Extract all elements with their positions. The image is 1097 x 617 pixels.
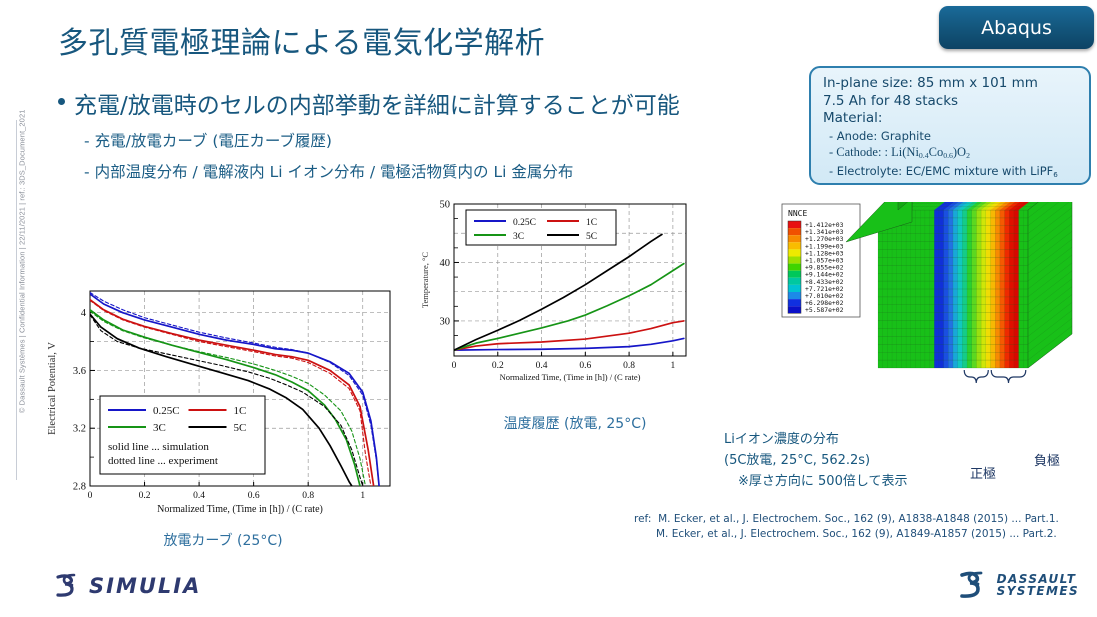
svg-text:3C: 3C bbox=[153, 422, 166, 434]
reference-line-1: ref: M. Ecker, et al., J. Electrochem. S… bbox=[634, 512, 1059, 527]
svg-text:0.6: 0.6 bbox=[248, 491, 260, 501]
reference-line-2: M. Ecker, et al., J. Electrochem. Soc., … bbox=[634, 527, 1059, 542]
reference-block: ref: M. Ecker, et al., J. Electrochem. S… bbox=[634, 512, 1059, 542]
confidential-text: © Dassault Systèmes | Confidential Infor… bbox=[18, 110, 27, 470]
spec-inplane-size: In-plane size: 85 mm x 101 mm bbox=[823, 75, 1079, 93]
model-annotation-line2: (5C放電, 25°C, 562.2s) bbox=[724, 449, 870, 468]
svg-text:Normalized Time, (Time in [h]): Normalized Time, (Time in [h]) / (C rate… bbox=[157, 504, 323, 515]
svg-text:40: 40 bbox=[440, 258, 451, 269]
simulia-wordmark: SIMULIA bbox=[89, 574, 201, 598]
svg-text:3.2: 3.2 bbox=[73, 424, 86, 435]
svg-text:dotted line ... experiment: dotted line ... experiment bbox=[108, 455, 218, 467]
svg-text:0.4: 0.4 bbox=[193, 491, 205, 501]
svg-text:solid line ... simulation: solid line ... simulation bbox=[108, 441, 209, 453]
bullet-dot-icon bbox=[58, 98, 65, 105]
dassault-wordmark: DASSAULT SYSTEMES bbox=[997, 573, 1079, 598]
svg-text:4: 4 bbox=[81, 308, 87, 319]
ds-line2: SYSTEMES bbox=[997, 585, 1079, 598]
spec-cathode: - Cathode: : Li(Ni0.4Co0.6)O2 bbox=[823, 144, 1079, 164]
svg-text:0.4: 0.4 bbox=[536, 361, 548, 371]
dassault-systemes-logo: DASSAULT SYSTEMES bbox=[955, 570, 1079, 600]
spec-info-box: In-plane size: 85 mm x 101 mm 7.5 Ah for… bbox=[809, 66, 1091, 185]
svg-text:0.2: 0.2 bbox=[492, 361, 504, 371]
bullet-level2-b: -内部温度分布 / 電解液内 Li イオン分布 / 電極活物質内の Li 金属分… bbox=[84, 160, 573, 182]
svg-text:0: 0 bbox=[452, 361, 457, 371]
svg-text:Electrical Potential, V: Electrical Potential, V bbox=[47, 342, 58, 435]
spec-material-heading: Material: bbox=[823, 110, 1079, 128]
svg-text:0.25C: 0.25C bbox=[513, 218, 536, 228]
temperature-chart-caption: 温度履歴 (放電, 25°C) bbox=[470, 413, 680, 433]
bullet-level2-a: -充電/放電カーブ (電圧カーブ履歴) bbox=[84, 129, 332, 151]
fem-model-view: NNCE+1.412e+03+1.341e+03+1.270e+03+1.199… bbox=[780, 202, 1097, 452]
svg-text:1C: 1C bbox=[586, 218, 597, 228]
svg-text:3.6: 3.6 bbox=[73, 366, 86, 377]
3ds-mark-icon bbox=[52, 573, 82, 599]
spec-anode: - Anode: Graphite bbox=[823, 128, 1079, 144]
page-title: 多孔質電極理論による電気化学解析 bbox=[58, 18, 545, 62]
svg-text:0.8: 0.8 bbox=[623, 361, 635, 371]
svg-text:+5.587e+02: +5.587e+02 bbox=[805, 306, 844, 314]
bullet-level2-a-text: 充電/放電カーブ (電圧カーブ履歴) bbox=[95, 132, 332, 150]
svg-text:0.6: 0.6 bbox=[579, 361, 591, 371]
svg-text:0.2: 0.2 bbox=[139, 491, 151, 501]
spec-capacity: 7.5 Ah for 48 stacks bbox=[823, 93, 1079, 111]
slide-canvas: © Dassault Systèmes | Confidential Infor… bbox=[0, 0, 1097, 617]
svg-text:3C: 3C bbox=[513, 232, 524, 242]
svg-text:5C: 5C bbox=[234, 422, 247, 434]
cathode-brace-label: 正極 bbox=[970, 463, 996, 482]
svg-text:30: 30 bbox=[440, 316, 451, 327]
svg-text:1C: 1C bbox=[234, 405, 247, 417]
simulia-logo: SIMULIA bbox=[52, 573, 201, 599]
anode-brace-label: 負極 bbox=[1034, 450, 1060, 469]
svg-text:2.8: 2.8 bbox=[73, 482, 86, 493]
svg-text:NNCE: NNCE bbox=[788, 209, 807, 218]
svg-text:5C: 5C bbox=[586, 232, 597, 242]
dash-marker: - bbox=[84, 132, 90, 150]
svg-text:1: 1 bbox=[360, 491, 365, 501]
bullet-level1: 充電/放電時のセルの内部挙動を詳細に計算することが可能 bbox=[58, 86, 680, 120]
svg-text:50: 50 bbox=[440, 200, 451, 211]
3ds-mark-icon bbox=[955, 570, 991, 600]
svg-text:1: 1 bbox=[670, 361, 675, 371]
confidential-strip: © Dassault Systèmes | Confidential Infor… bbox=[2, 120, 20, 480]
abaqus-badge-label: Abaqus bbox=[981, 17, 1052, 39]
svg-text:0.25C: 0.25C bbox=[153, 405, 180, 417]
model-annotation-line3: ※厚さ方向に 500倍して表示 bbox=[738, 470, 907, 489]
model-annotation-line1: Liイオン濃度の分布 bbox=[724, 428, 839, 447]
temperature-history-chart: 00.20.40.60.81304050Normalized Time, (Ti… bbox=[418, 196, 698, 401]
svg-text:0: 0 bbox=[88, 491, 93, 501]
spec-electrolyte: - Electrolyte: EC/EMC mixture with LiPF6 bbox=[823, 163, 1079, 183]
svg-text:Normalized Time, (Time in [h]): Normalized Time, (Time in [h]) / (C rate… bbox=[500, 372, 641, 382]
discharge-curve-chart: 00.20.40.60.812.83.23.64Normalized Time,… bbox=[38, 283, 408, 518]
dash-marker: - bbox=[84, 163, 90, 181]
bullet-level2-b-text: 内部温度分布 / 電解液内 Li イオン分布 / 電極活物質内の Li 金属分布 bbox=[95, 163, 574, 181]
svg-text:Temperature, °C: Temperature, °C bbox=[420, 252, 430, 308]
svg-text:0.8: 0.8 bbox=[302, 491, 314, 501]
abaqus-badge[interactable]: Abaqus bbox=[939, 6, 1094, 49]
bullet-level1-text: 充電/放電時のセルの内部挙動を詳細に計算することが可能 bbox=[74, 86, 680, 120]
discharge-chart-caption: 放電カーブ (25°C) bbox=[118, 530, 328, 550]
